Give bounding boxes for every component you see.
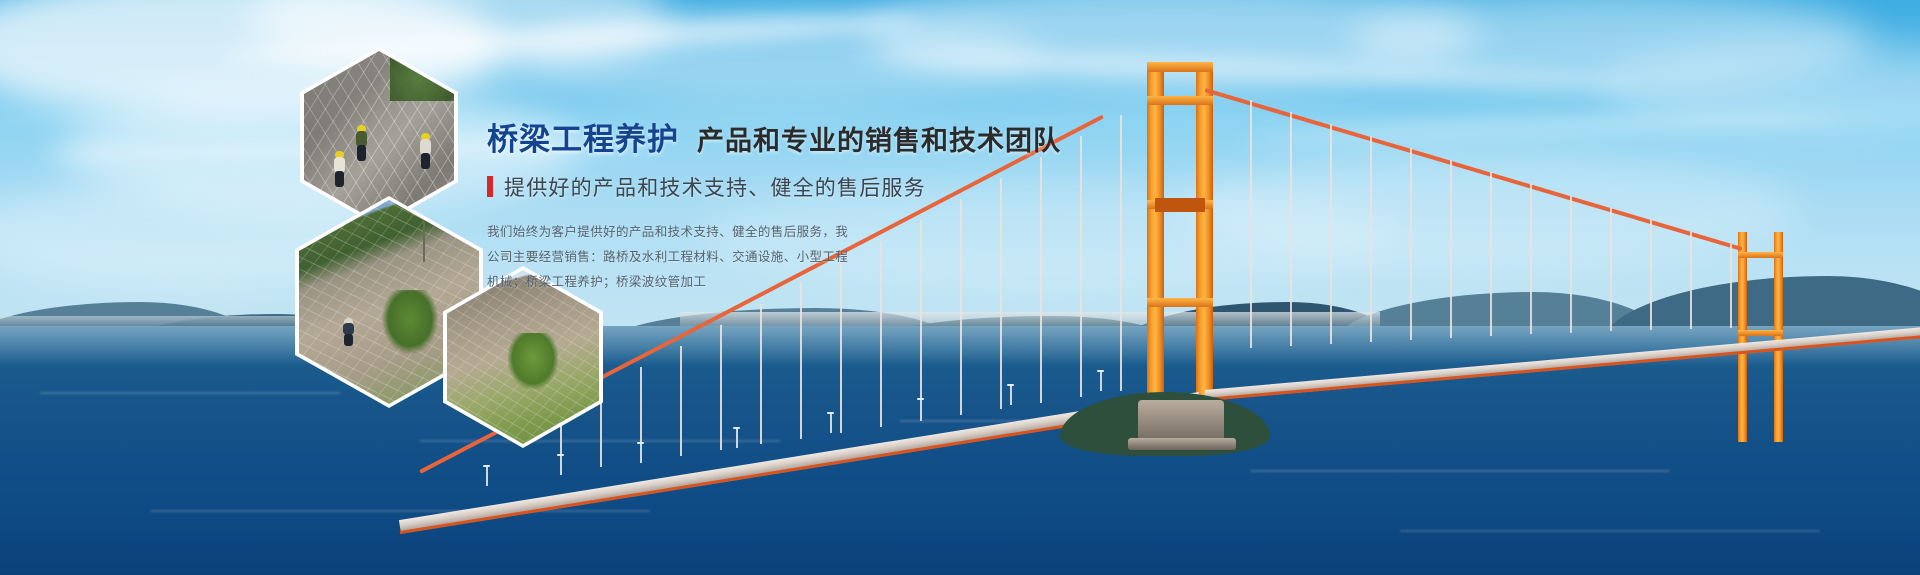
deck-lamp xyxy=(560,455,562,475)
deck-lamp xyxy=(640,443,642,463)
deck-lamp-head xyxy=(733,427,740,429)
hanger xyxy=(1690,232,1692,329)
utility-pole xyxy=(423,222,425,262)
hanger xyxy=(1730,244,1732,328)
hanger xyxy=(1610,208,1612,331)
banner-subheadline-row: 提供好的产品和技术支持、健全的售后服务 xyxy=(487,172,1047,202)
headline-primary: 桥梁工程养护 xyxy=(487,122,679,157)
bridge-tower-main-crossbeam xyxy=(1147,298,1213,307)
headline-secondary: 产品和专业的销售和技术团队 xyxy=(697,126,1061,156)
photo-tree xyxy=(382,290,438,354)
hanger xyxy=(680,346,682,456)
deck-lamp xyxy=(1100,371,1102,391)
hanger xyxy=(720,325,722,450)
deck-lamp xyxy=(736,428,738,448)
hero-banner: 桥梁工程养护产品和专业的销售和技术团队 提供好的产品和技术支持、健全的售后服务 … xyxy=(0,0,1920,575)
deck-lamp-head xyxy=(917,398,924,400)
bridge-tower-main-leg xyxy=(1196,62,1213,414)
bridge-tower-main-leg xyxy=(1147,62,1164,414)
bridge-tower-far-crossbeam xyxy=(1738,330,1783,336)
deck-lamp-head xyxy=(827,412,834,414)
hanger xyxy=(1120,115,1122,391)
hanger xyxy=(1330,124,1332,344)
hanger xyxy=(1370,136,1372,342)
bridge-tower-sign xyxy=(1155,198,1205,212)
deck-lamp-head xyxy=(1097,370,1104,372)
hanger xyxy=(800,283,802,439)
deck-lamp xyxy=(486,466,488,486)
bridge-tower-main-crossbeam xyxy=(1147,96,1213,105)
banner-text-block: 桥梁工程养护产品和专业的销售和技术团队 提供好的产品和技术支持、健全的售后服务 … xyxy=(487,122,1047,295)
worker-legs xyxy=(421,153,430,169)
deck-lamp-head xyxy=(557,454,564,456)
photo-tree xyxy=(508,333,558,389)
worker-legs xyxy=(357,145,366,161)
bridge-deck-edge-right xyxy=(1205,335,1920,401)
bridge-tower-far-leg xyxy=(1738,232,1747,442)
deck-lamp xyxy=(1010,385,1012,405)
hanger xyxy=(1450,160,1452,338)
deck-lamp-head xyxy=(637,442,644,444)
hanger xyxy=(1490,172,1492,336)
hanger xyxy=(760,304,762,444)
hanger xyxy=(1290,112,1292,346)
worker-legs xyxy=(335,171,344,187)
bridge-tower-far-crossbeam xyxy=(1738,252,1783,258)
deck-lamp-head xyxy=(1007,384,1014,386)
worker-legs xyxy=(344,334,353,346)
accent-bar xyxy=(487,176,493,197)
hanger xyxy=(1530,184,1532,334)
main-cable-right xyxy=(1204,88,1742,251)
deck-lamp xyxy=(920,399,922,419)
bridge-tower-main-top xyxy=(1147,62,1213,72)
hanger xyxy=(1650,220,1652,330)
hanger xyxy=(1250,100,1252,348)
banner-subheadline: 提供好的产品和技术支持、健全的售后服务 xyxy=(504,172,926,202)
hanger xyxy=(1570,196,1572,333)
deck-lamp xyxy=(830,413,832,433)
bridge-tower-far-leg xyxy=(1774,232,1783,442)
hanger xyxy=(1410,148,1412,340)
bridge-pier-footing xyxy=(1128,438,1236,450)
banner-body-copy: 我们始终为客户提供好的产品和技术支持、健全的售后服务，我公司主要经营销售：路桥及… xyxy=(487,220,859,295)
banner-headline: 桥梁工程养护产品和专业的销售和技术团队 xyxy=(487,122,1047,159)
hanger xyxy=(1080,136,1082,397)
deck-lamp-head xyxy=(483,465,490,467)
